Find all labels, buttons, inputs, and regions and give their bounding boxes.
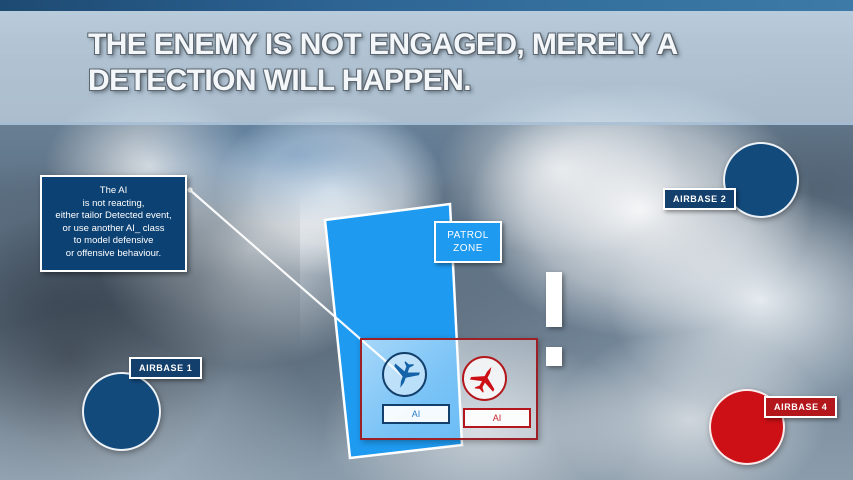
page-title: THE ENEMY IS NOT ENGAGED, MERELY A DETEC…: [88, 27, 788, 99]
fighter-jet-icon: [470, 364, 500, 394]
blue-unit-label: AI: [382, 404, 450, 424]
patrol-zone-label-line2: ZONE: [446, 242, 490, 255]
airbase-4-label: AIRBASE 4: [764, 396, 837, 418]
airbase-1-label: AIRBASE 1: [129, 357, 202, 379]
callout-line-6: or offensive behaviour.: [49, 248, 178, 261]
fighter-jet-icon: [390, 360, 420, 390]
callout-line-2: is not reacting,: [49, 198, 178, 211]
airbase-1-marker[interactable]: [82, 372, 161, 451]
callout-line-4: or use another AI_ class: [49, 223, 178, 236]
blue-fighter-jet-icon: [382, 352, 427, 397]
alert-exclamation-dot: [546, 347, 562, 366]
callout-line-1: The AI: [49, 185, 178, 198]
alert-exclamation-stem: [546, 272, 562, 327]
patrol-zone-label-line1: PATROL: [446, 229, 490, 242]
red-fighter-jet-icon: [462, 356, 507, 401]
top-accent-strip: [0, 0, 853, 11]
callout-line-5: to model defensive: [49, 235, 178, 248]
patrol-zone-label: PATROL ZONE: [434, 221, 502, 263]
engagement-detail-panel: AI AI: [360, 338, 538, 440]
callout-line-3: either tailor Detected event,: [49, 210, 178, 223]
red-unit-label: AI: [463, 408, 531, 428]
slide-canvas: THE ENEMY IS NOT ENGAGED, MERELY A DETEC…: [0, 0, 853, 480]
airbase-2-label: AIRBASE 2: [663, 188, 736, 210]
ai-behaviour-callout: The AI is not reacting, either tailor De…: [40, 175, 187, 272]
